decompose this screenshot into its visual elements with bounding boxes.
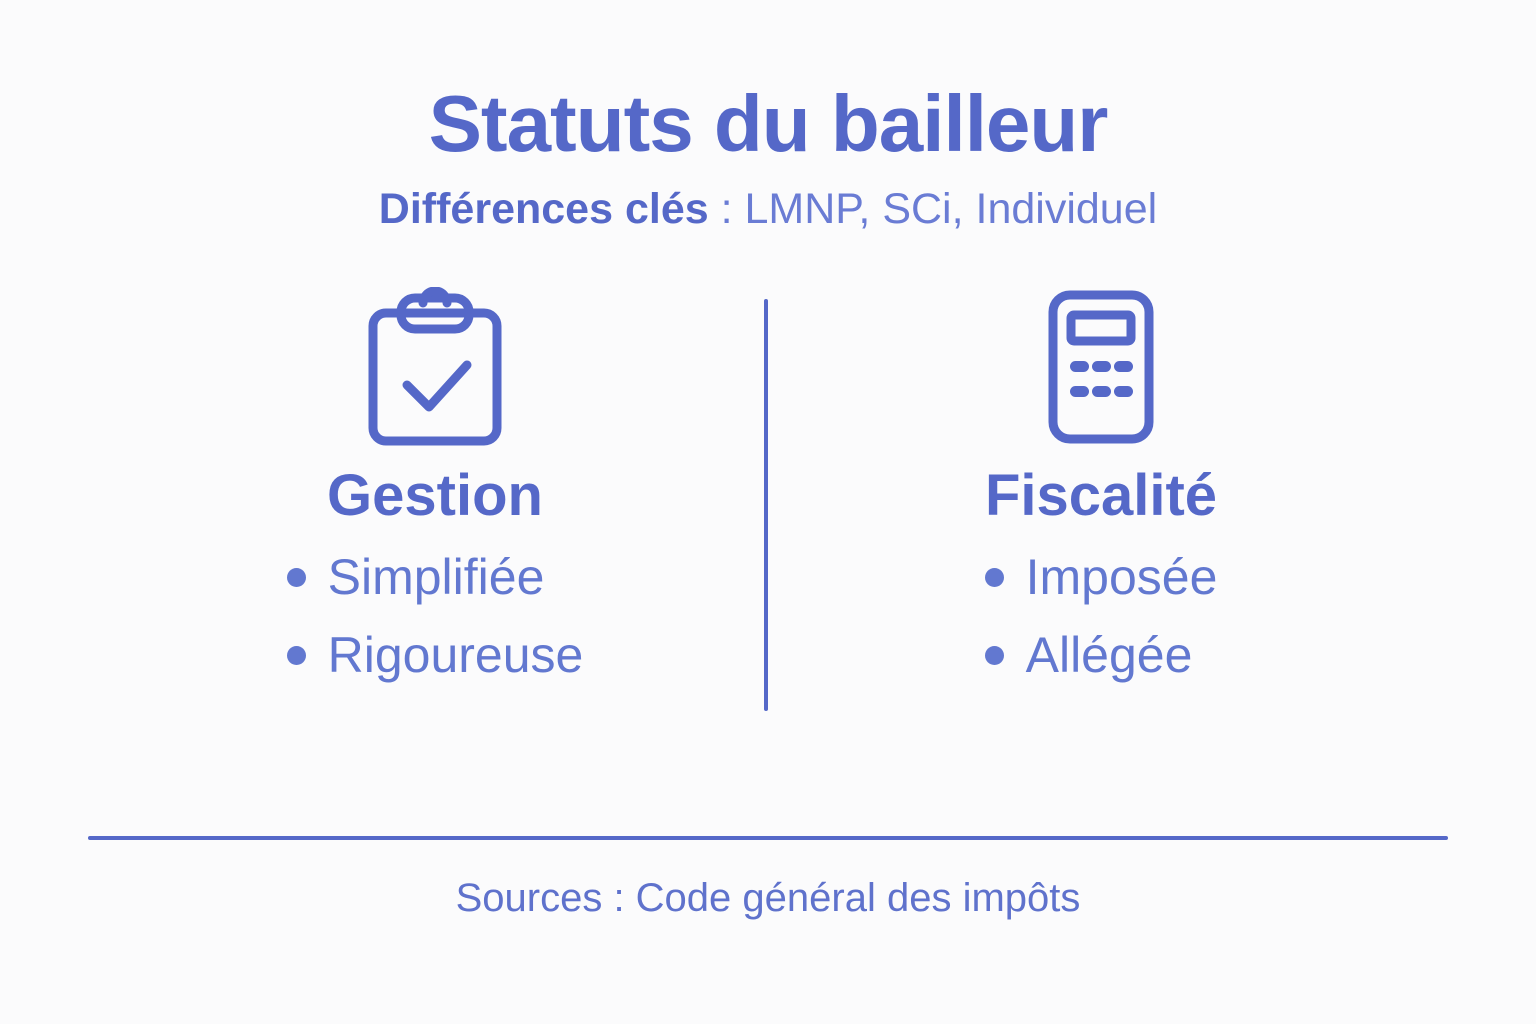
calculator-keys <box>1070 361 1133 397</box>
page-subtitle: Différences clés : LMNP, SCi, Individuel <box>0 188 1536 231</box>
bullet-dot-icon <box>985 568 1004 587</box>
list-item: Rigoureuse <box>287 627 584 683</box>
subtitle-detail: : LMNP, SCi, Individuel <box>709 185 1158 233</box>
footer-divider <box>88 836 1448 840</box>
clipboard-check-glyph <box>367 287 503 447</box>
sources-note: Sources : Code général des impôts <box>0 878 1536 918</box>
calculator-glyph <box>1033 287 1169 447</box>
list-item: Allégée <box>985 627 1218 683</box>
column-heading-fiscalite: Fiscalité <box>985 467 1217 525</box>
header: Statuts du bailleur Différences clés : L… <box>0 0 1536 231</box>
bullet-dot-icon <box>287 646 306 665</box>
infographic-canvas: Statuts du bailleur Différences clés : L… <box>0 0 1536 1024</box>
bullet-dot-icon <box>985 646 1004 665</box>
list-item-label: Allégée <box>1026 627 1193 683</box>
list-item: Simplifiée <box>287 549 584 605</box>
comparison-columns: Gestion Simplifiée Rigoureuse <box>0 287 1536 683</box>
list-item: Imposée <box>985 549 1218 605</box>
bullet-dot-icon <box>287 568 306 587</box>
list-item-label: Imposée <box>1026 549 1218 605</box>
column-heading-gestion: Gestion <box>327 467 543 525</box>
bullet-list-fiscalite: Imposée Allégée <box>985 549 1218 683</box>
vertical-divider <box>764 299 768 711</box>
calculator-icon <box>1033 287 1169 447</box>
list-item-label: Simplifiée <box>328 549 545 605</box>
column-gestion: Gestion Simplifiée Rigoureuse <box>168 287 768 683</box>
subtitle-emphasis: Différences clés <box>379 185 709 233</box>
clipboard-check-icon <box>367 287 503 447</box>
list-item-label: Rigoureuse <box>328 627 584 683</box>
bullet-list-gestion: Simplifiée Rigoureuse <box>287 549 584 683</box>
page-title: Statuts du bailleur <box>0 84 1536 164</box>
column-fiscalite: Fiscalité Imposée Allégée <box>768 287 1368 683</box>
